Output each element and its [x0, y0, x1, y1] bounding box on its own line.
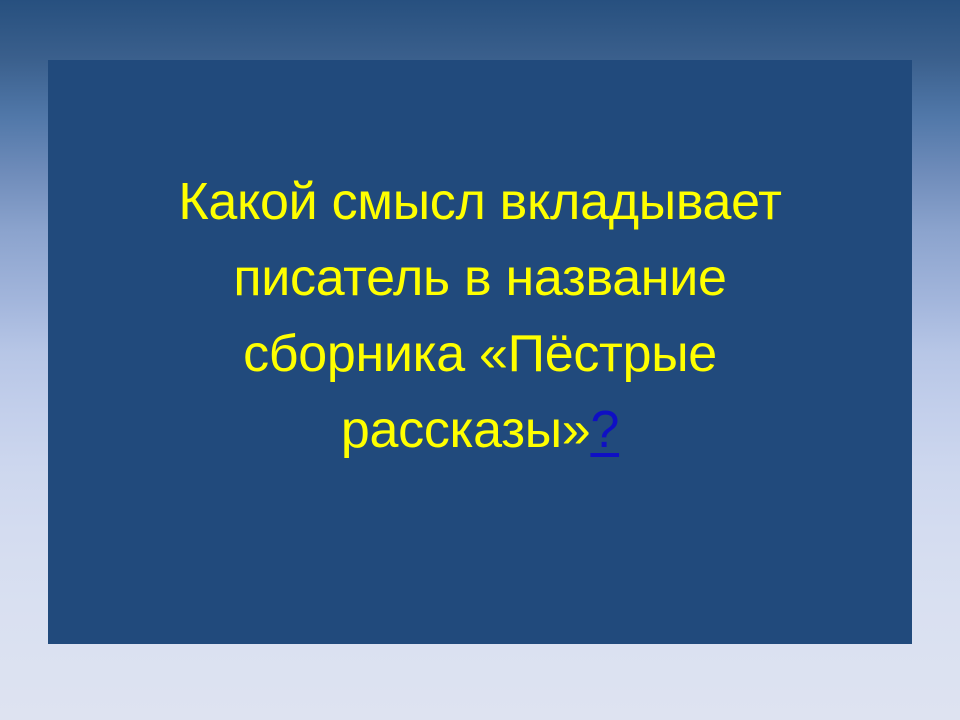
- question-text-block: Какой смысл вкладывает писатель в назван…: [48, 164, 912, 468]
- slide-canvas: Какой смысл вкладывает писатель в назван…: [0, 0, 960, 720]
- question-line-3: сборника «Пёстрые: [104, 316, 856, 392]
- question-line-4-text: рассказы»: [341, 401, 591, 459]
- question-line-2: писатель в название: [104, 240, 856, 316]
- question-line-4: рассказы»?: [104, 392, 856, 468]
- question-line-1: Какой смысл вкладывает: [104, 164, 856, 240]
- content-panel: Какой смысл вкладывает писатель в назван…: [48, 60, 912, 644]
- question-mark-link[interactable]: ?: [590, 401, 619, 459]
